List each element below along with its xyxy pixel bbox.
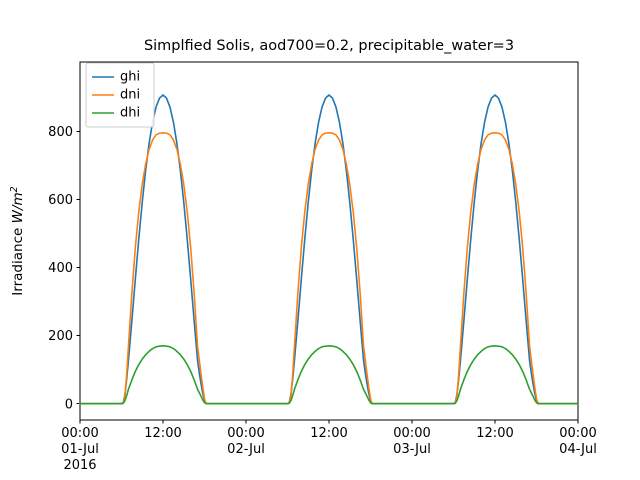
x-tick-label-line: 2016 (63, 458, 96, 473)
y-tick-label: 800 (48, 125, 73, 140)
x-tick-label-line: 02-Jul (227, 442, 265, 457)
legend-label-ghi: ghi (120, 70, 140, 85)
x-tick-label-line: 00:00 (559, 426, 596, 441)
x-tick-label-line: 12:00 (310, 426, 347, 441)
x-tick-label: 00:0002-Jul (227, 426, 265, 457)
x-tick-label: 00:0004-Jul (559, 426, 597, 457)
chart-canvas: 020040060080000:0001-Jul201612:0000:0002… (0, 0, 640, 480)
series-line-dhi (80, 346, 578, 404)
y-axis-label-math: W/m (10, 192, 26, 223)
x-tick-label-line: 03-Jul (393, 442, 431, 457)
y-axis-label-text: Irradiance (10, 223, 26, 295)
x-tick-label-line: 12:00 (144, 426, 181, 441)
x-tick-label-line: 04-Jul (559, 442, 597, 457)
series-line-dni (80, 133, 578, 404)
plot-title: Simplfied Solis, aod700=0.2, precipitabl… (144, 38, 514, 54)
x-tick-label: 00:0001-Jul2016 (61, 426, 99, 473)
y-axis-label: Irradiance W/m2 (9, 186, 26, 295)
y-tick-label: 600 (48, 193, 73, 208)
y-tick-label: 0 (65, 397, 73, 412)
legend-label-dni: dni (120, 88, 140, 103)
x-tick-label: 00:0003-Jul (393, 426, 431, 457)
legend-label-dhi: dhi (120, 106, 140, 121)
x-tick-label-line: 01-Jul (61, 442, 99, 457)
x-tick-label-line: 00:00 (227, 426, 264, 441)
x-tick-label-line: 00:00 (61, 426, 98, 441)
matplotlib-figure: 020040060080000:0001-Jul201612:0000:0002… (0, 0, 640, 480)
y-tick-label: 200 (48, 329, 73, 344)
y-axis-label-exponent: 2 (9, 186, 20, 192)
x-tick-label-line: 12:00 (476, 426, 513, 441)
x-tick-label: 12:00 (476, 426, 513, 441)
x-tick-label-line: 00:00 (393, 426, 430, 441)
x-tick-label: 12:00 (310, 426, 347, 441)
x-tick-label: 12:00 (144, 426, 181, 441)
series-line-ghi (80, 95, 578, 404)
y-tick-label: 400 (48, 261, 73, 276)
